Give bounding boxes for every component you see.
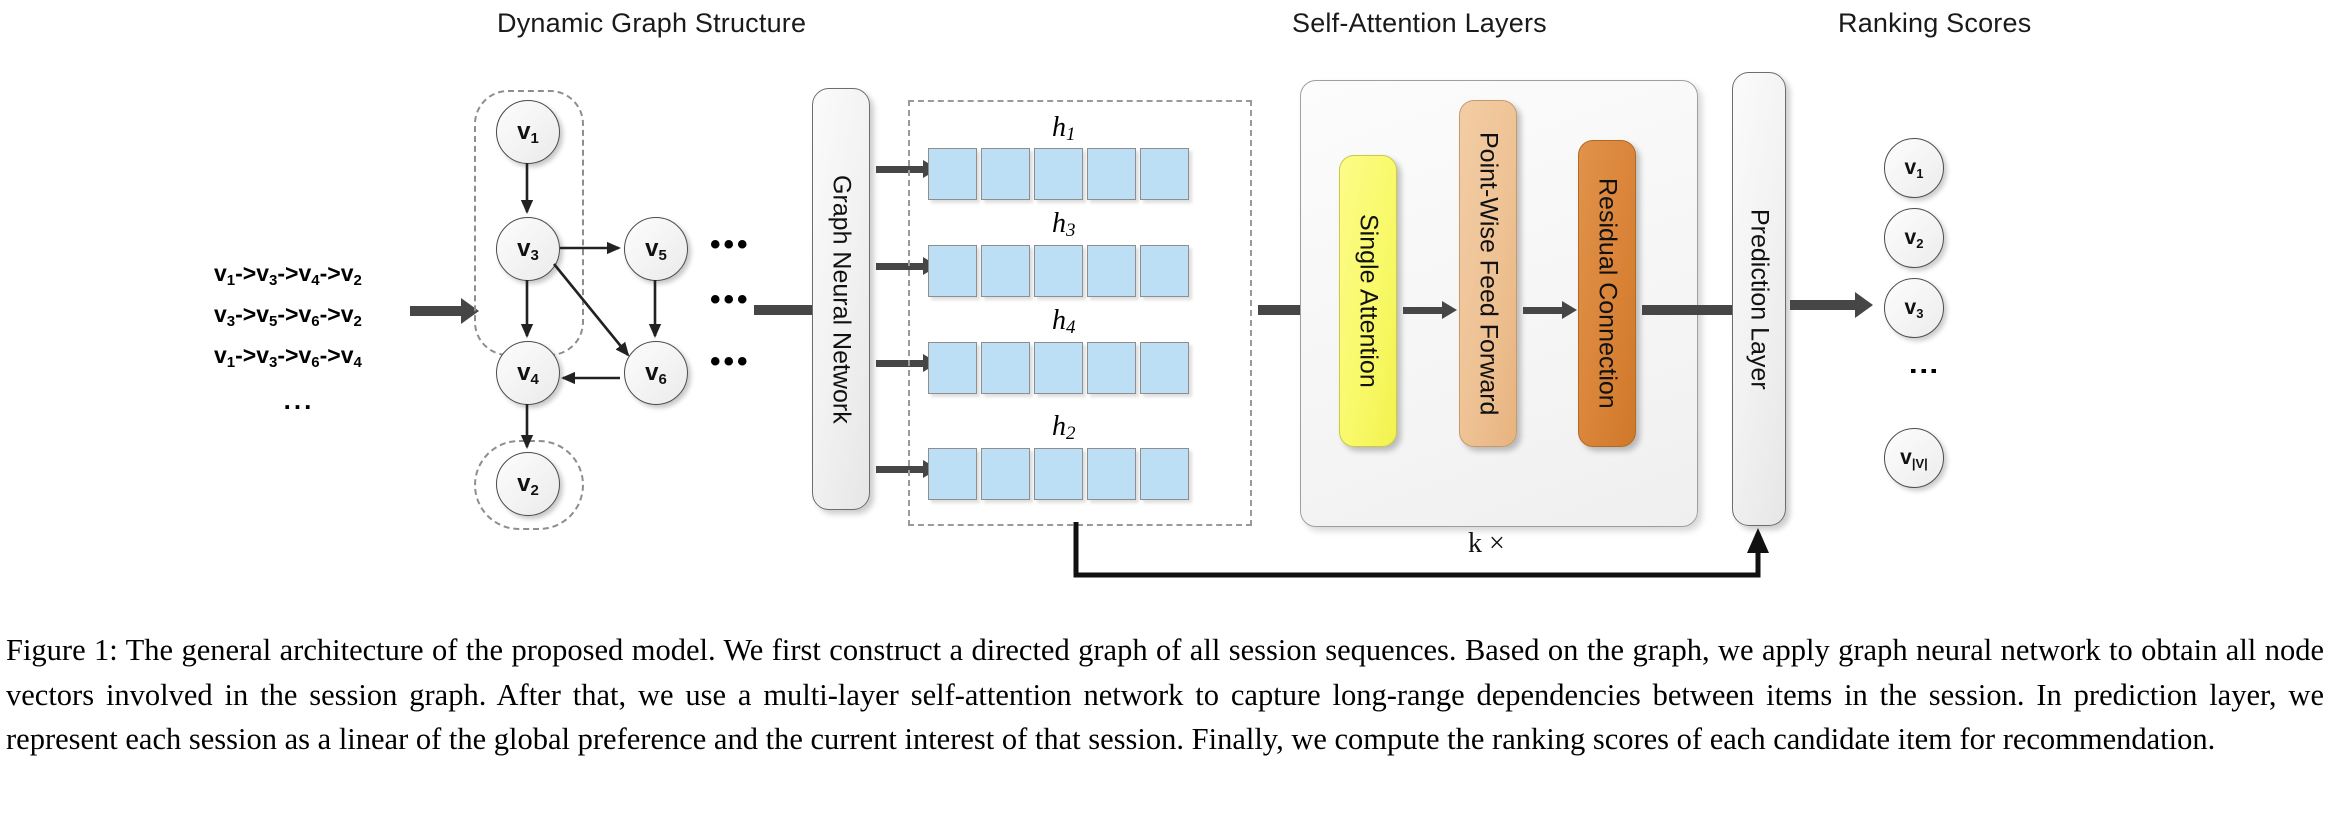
hidden-state-row-h1 — [928, 148, 1189, 200]
session-sequence-3: v1->v3->v6->v4 — [214, 344, 464, 370]
arrow-ffn-to-residual — [1523, 307, 1563, 314]
hidden-cell — [1140, 245, 1189, 297]
hidden-cell — [981, 245, 1030, 297]
hidden-cell — [1034, 245, 1083, 297]
ranking-node-vV: v|V| — [1884, 428, 1944, 488]
figure-caption-text: Figure 1: The general architecture of th… — [6, 628, 2324, 762]
ranking-node-v2: v2 — [1884, 208, 1944, 268]
hidden-cell — [1034, 342, 1083, 394]
block-residual-connection: Residual Connection — [1578, 140, 1636, 447]
hidden-cell — [981, 448, 1030, 500]
hidden-cell — [928, 342, 977, 394]
ranking-ellipsis: ⋮ — [1906, 356, 1941, 386]
arrow-attention-to-prediction — [1642, 305, 1736, 315]
block-single-attention: Single Attention — [1339, 155, 1397, 447]
hidden-state-row-h2 — [928, 448, 1189, 500]
hidden-state-label-h2: h2 — [1052, 411, 1076, 445]
figure-container: Dynamic Graph Structure Self-Attention L… — [0, 0, 2328, 822]
gnn-label: Graph Neural Network — [827, 175, 856, 424]
graph-node-v6: v6 — [624, 341, 688, 405]
figure-caption: Figure 1: The general architecture of th… — [6, 628, 2324, 762]
hidden-cell — [1140, 448, 1189, 500]
hidden-cell — [981, 342, 1030, 394]
hidden-cell — [1140, 342, 1189, 394]
session-sequence-ellipsis: ... — [214, 385, 384, 416]
hidden-cell — [1140, 148, 1189, 200]
hidden-cell — [1087, 148, 1136, 200]
arrow-prediction-to-ranking — [1790, 300, 1856, 310]
hidden-cell — [1034, 448, 1083, 500]
hidden-state-row-h3 — [928, 245, 1189, 297]
hidden-cell — [928, 148, 977, 200]
graph-ellipsis-1: ••• — [710, 228, 751, 262]
header-self-attention-layers: Self-Attention Layers — [1292, 8, 1547, 39]
graph-node-v3: v3 — [496, 217, 560, 281]
header-dynamic-graph-structure: Dynamic Graph Structure — [497, 8, 806, 39]
single-attention-label: Single Attention — [1354, 214, 1383, 388]
hidden-state-row-h4 — [928, 342, 1189, 394]
session-sequence-1: v1->v3->v4->v2 — [214, 262, 464, 288]
hidden-state-label-h3: h3 — [1052, 208, 1076, 242]
graph-node-v5: v5 — [624, 217, 688, 281]
hidden-state-label-h4: h4 — [1052, 305, 1076, 339]
header-ranking-scores: Ranking Scores — [1838, 8, 2031, 39]
session-sequence-list: v1->v3->v4->v2 v3->v5->v6->v2 v1->v3->v6… — [214, 262, 464, 416]
arrow-attention-to-ffn — [1403, 307, 1443, 314]
prediction-layer-label: Prediction Layer — [1745, 209, 1774, 390]
arrow-sessions-to-graph — [410, 306, 462, 316]
repeat-k-times-label: k × — [1468, 528, 1505, 560]
graph-ellipsis-2: ••• — [710, 283, 751, 317]
hidden-cell — [928, 245, 977, 297]
module-prediction-layer: Prediction Layer — [1732, 72, 1786, 526]
ranking-node-v3: v3 — [1884, 278, 1944, 338]
hidden-state-label-h1: h1 — [1052, 112, 1076, 146]
hidden-cell — [981, 148, 1030, 200]
residual-connection-label: Residual Connection — [1593, 178, 1622, 409]
graph-ellipsis-3: ••• — [710, 345, 751, 379]
hidden-cell — [1087, 448, 1136, 500]
hidden-cell — [928, 448, 977, 500]
ranking-node-v1: v1 — [1884, 138, 1944, 198]
hidden-cell — [1034, 148, 1083, 200]
hidden-cell — [1087, 342, 1136, 394]
graph-node-v4: v4 — [496, 341, 560, 405]
module-graph-neural-network: Graph Neural Network — [812, 88, 870, 510]
point-wise-feed-forward-label: Point-Wise Feed Forward — [1474, 132, 1503, 415]
hidden-cell — [1087, 245, 1136, 297]
graph-node-v1: v1 — [496, 100, 560, 164]
arrow-graph-to-gnn — [754, 305, 814, 315]
graph-dashed-outline-bottom — [474, 440, 584, 530]
block-point-wise-feed-forward: Point-Wise Feed Forward — [1459, 100, 1517, 447]
